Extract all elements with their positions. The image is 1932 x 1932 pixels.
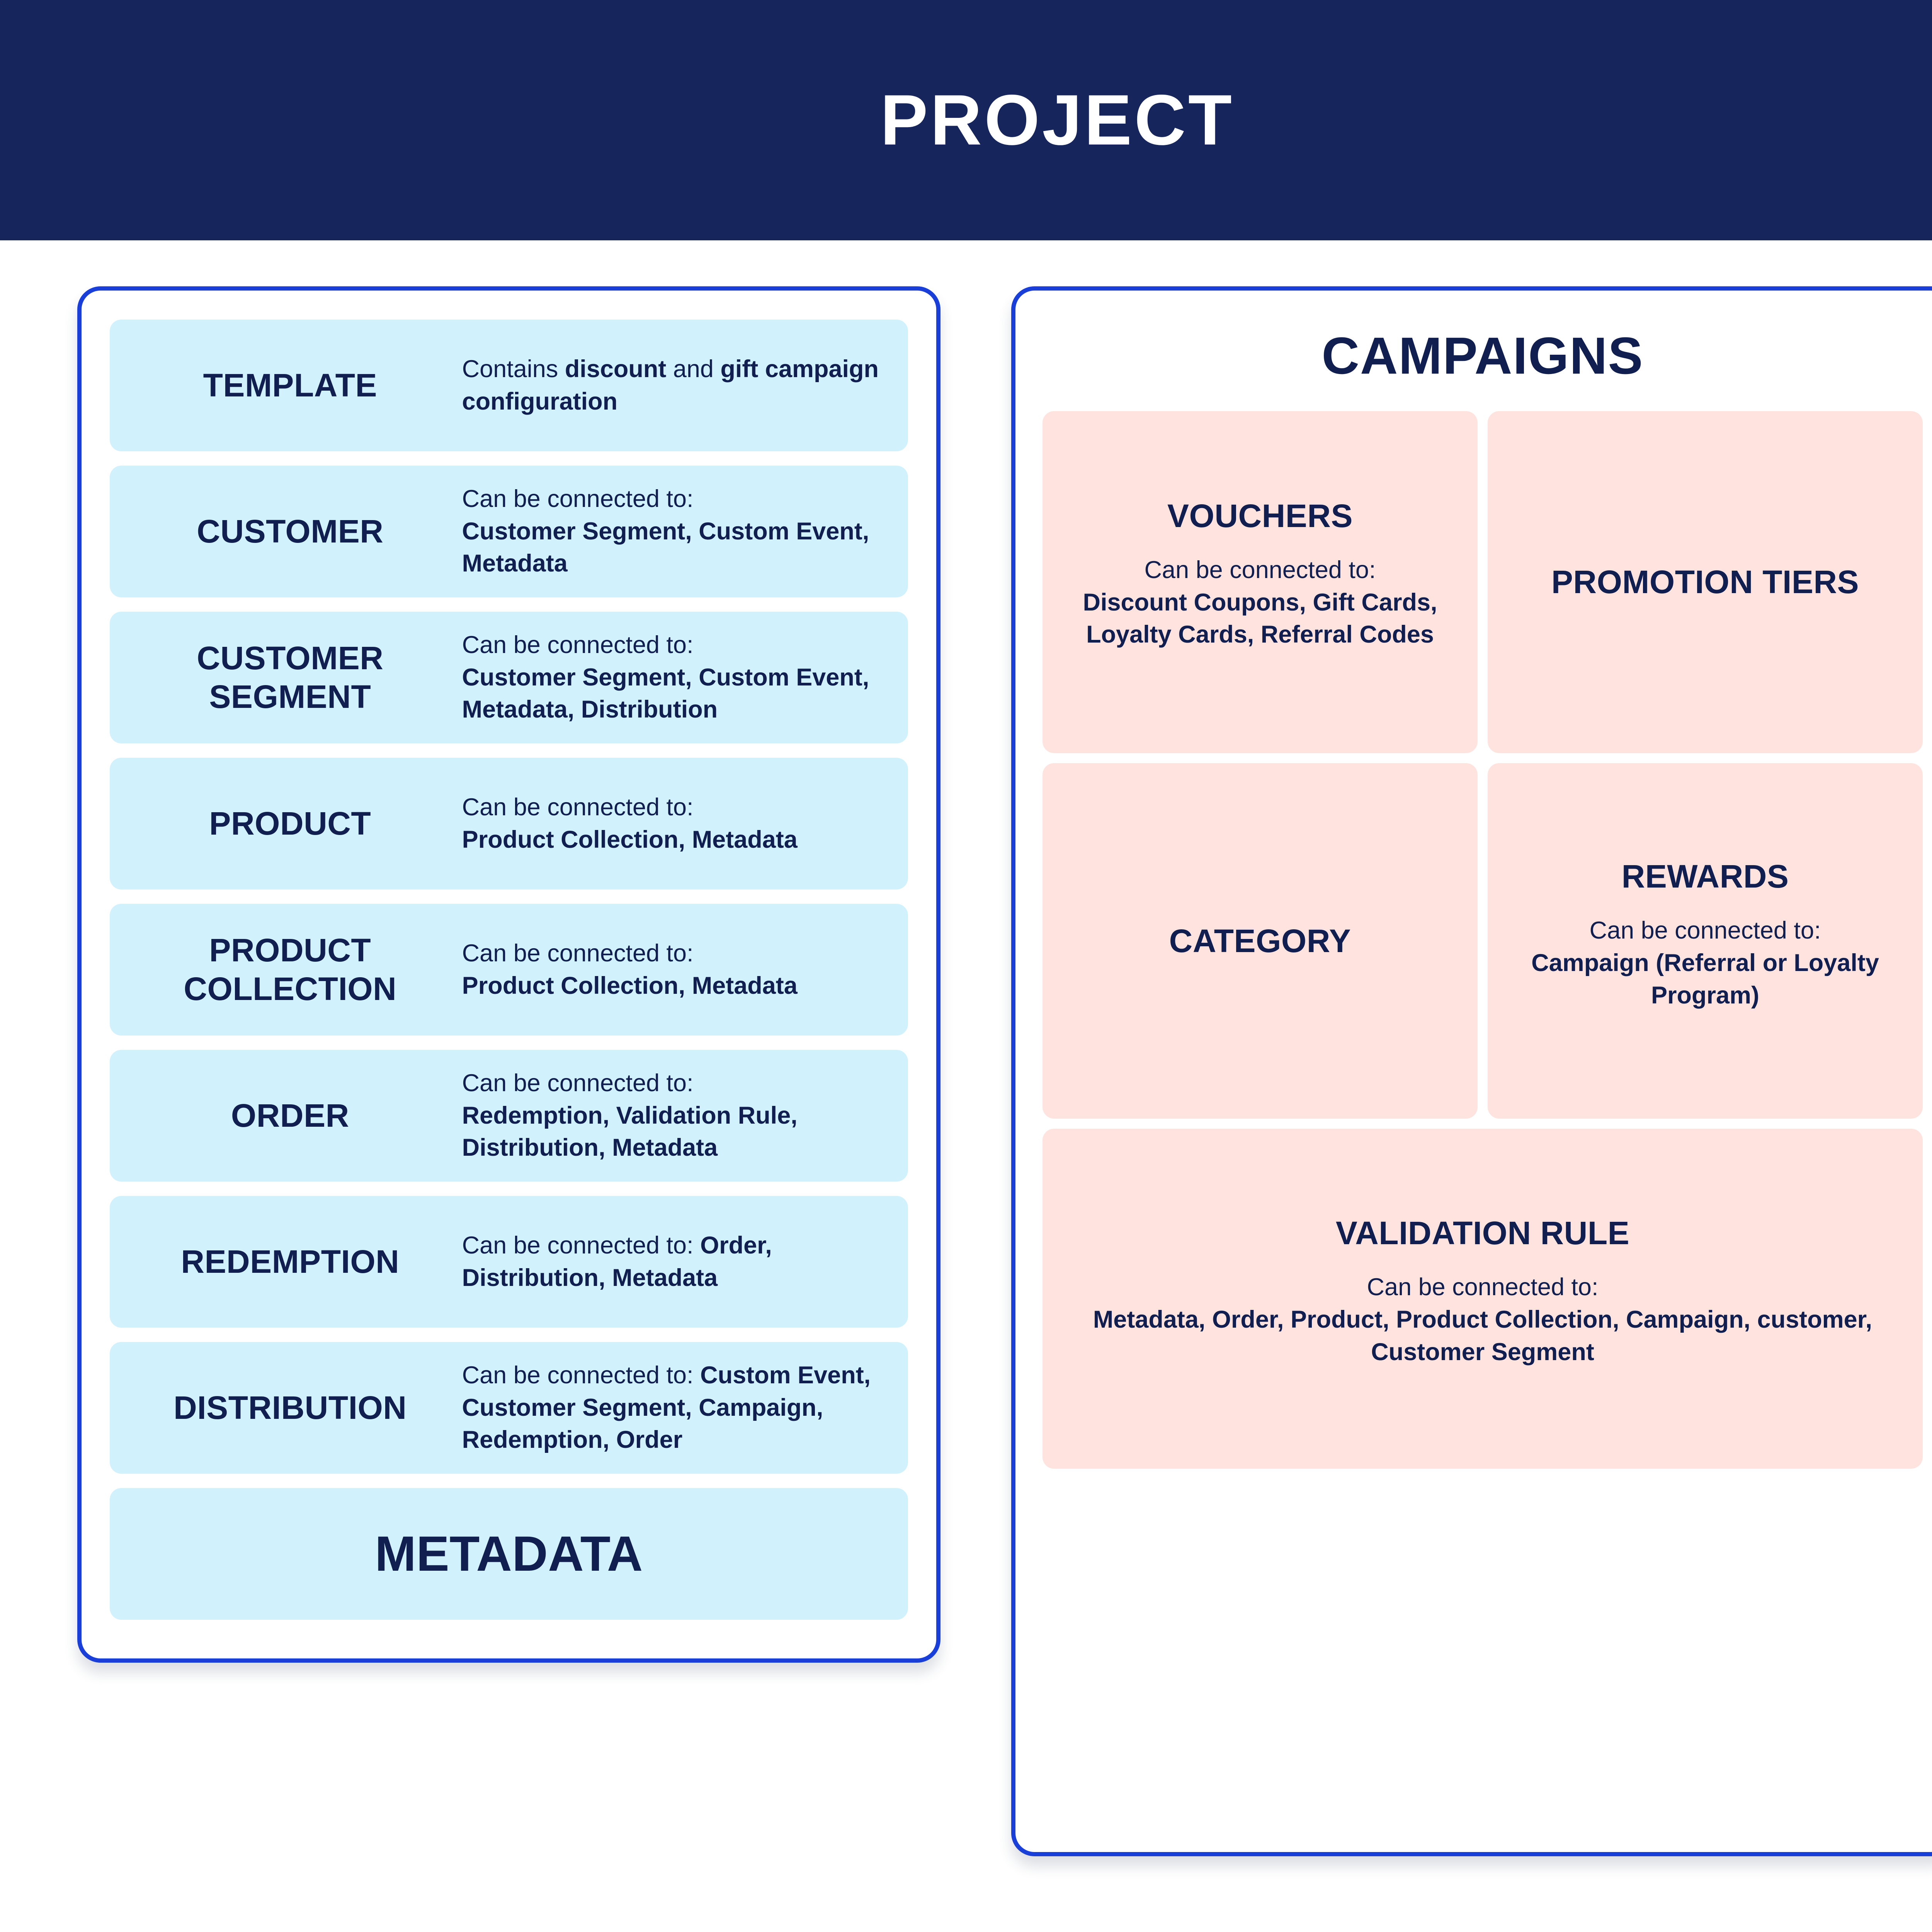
campaigns-heading: CAMPAIGNS [1043, 330, 1923, 382]
campaign-card-grid: VOUCHERS Can be connected to:Discount Co… [1043, 411, 1923, 1469]
page-header: PROJECT [0, 0, 1932, 240]
campaign-card-category[interactable]: CATEGORY [1043, 763, 1478, 1119]
object-description: Contains discount and gift campaign conf… [462, 353, 900, 418]
object-row-redemption[interactable]: REDEMPTION Can be connected to: Order, D… [110, 1196, 908, 1328]
card-title: REWARDS [1505, 858, 1906, 895]
object-row-template[interactable]: TEMPLATE Contains discount and gift camp… [110, 320, 908, 451]
card-title: CATEGORY [1060, 923, 1461, 959]
object-title: CUSTOMER [118, 512, 462, 551]
object-description: Can be connected to:Product Collection, … [462, 791, 900, 856]
object-row-customer-segment[interactable]: CUSTOMER SEGMENT Can be connected to:Cus… [110, 612, 908, 743]
diagram-board: TEMPLATE Contains discount and gift camp… [0, 240, 1932, 1932]
object-title: CUSTOMER SEGMENT [118, 639, 462, 716]
object-description: Can be connected to: Custom Event, Custo… [462, 1359, 900, 1456]
page-title: PROJECT [880, 85, 1234, 156]
object-description: Can be connected to:Customer Segment, Cu… [462, 483, 900, 580]
object-description: Can be connected to:Product Collection, … [462, 937, 900, 1002]
object-row-product[interactable]: PRODUCT Can be connected to:Product Coll… [110, 758, 908, 889]
object-row-order[interactable]: ORDER Can be connected to:Redemption, Va… [110, 1050, 908, 1182]
card-description: Can be connected to:Campaign (Referral o… [1505, 915, 1906, 1012]
object-row-customer[interactable]: CUSTOMER Can be connected to:Customer Se… [110, 466, 908, 597]
object-title: DISTRIBUTION [118, 1389, 462, 1427]
object-title: ORDER [118, 1097, 462, 1135]
project-object-list: TEMPLATE Contains discount and gift camp… [110, 320, 908, 1620]
object-row-metadata[interactable]: METADATA [110, 1488, 908, 1620]
object-title: METADATA [118, 1525, 900, 1583]
campaign-card-vouchers[interactable]: VOUCHERS Can be connected to:Discount Co… [1043, 411, 1478, 753]
object-row-distribution[interactable]: DISTRIBUTION Can be connected to: Custom… [110, 1342, 908, 1474]
object-title: PRODUCT [118, 804, 462, 843]
object-title: TEMPLATE [118, 366, 462, 405]
card-title: VALIDATION RULE [1060, 1215, 1906, 1251]
object-title: REDEMPTION [118, 1243, 462, 1281]
card-description: Can be connected to:Discount Coupons, Gi… [1060, 554, 1461, 651]
card-title: PROMOTION TIERS [1505, 564, 1906, 600]
campaigns-panel: CAMPAIGNS VOUCHERS Can be connected to:D… [1011, 286, 1932, 1856]
campaign-card-promotion-tiers[interactable]: PROMOTION TIERS [1488, 411, 1923, 753]
campaign-card-validation-rule[interactable]: VALIDATION RULE Can be connected to:Meta… [1043, 1129, 1923, 1469]
object-description: Can be connected to: Order, Distribution… [462, 1230, 900, 1294]
object-row-product-collection[interactable]: PRODUCT COLLECTION Can be connected to:P… [110, 904, 908, 1036]
card-description: Can be connected to:Metadata, Order, Pro… [1060, 1271, 1906, 1368]
card-title: VOUCHERS [1060, 498, 1461, 534]
object-description: Can be connected to:Customer Segment, Cu… [462, 629, 900, 726]
campaign-card-rewards[interactable]: REWARDS Can be connected to:Campaign (Re… [1488, 763, 1923, 1119]
project-objects-panel: TEMPLATE Contains discount and gift camp… [77, 286, 940, 1663]
object-description: Can be connected to:Redemption, Validati… [462, 1067, 900, 1164]
object-title: PRODUCT COLLECTION [118, 931, 462, 1008]
